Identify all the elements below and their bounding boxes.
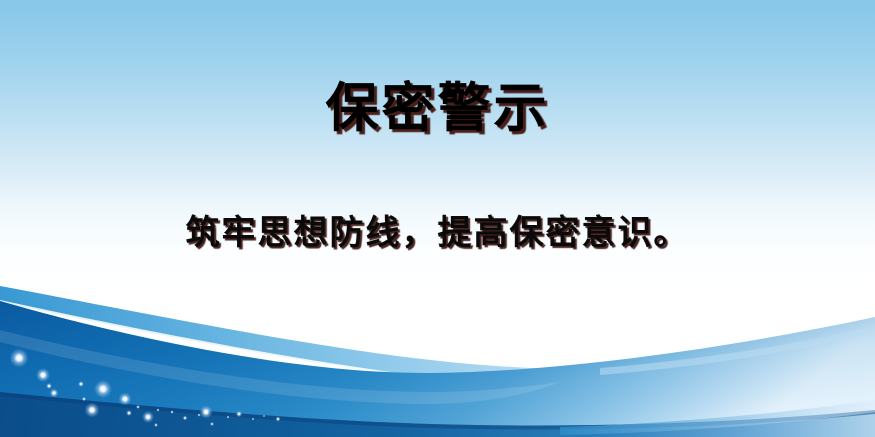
- slide-text-layer: 保密警示 筑牢思想防线，提高保密意识。: [0, 0, 875, 437]
- secrecy-warning-slide: 保密警示 筑牢思想防线，提高保密意识。: [0, 0, 875, 437]
- page-title: 保密警示: [0, 78, 875, 140]
- slide-subtitle: 筑牢思想防线，提高保密意识。: [0, 211, 875, 255]
